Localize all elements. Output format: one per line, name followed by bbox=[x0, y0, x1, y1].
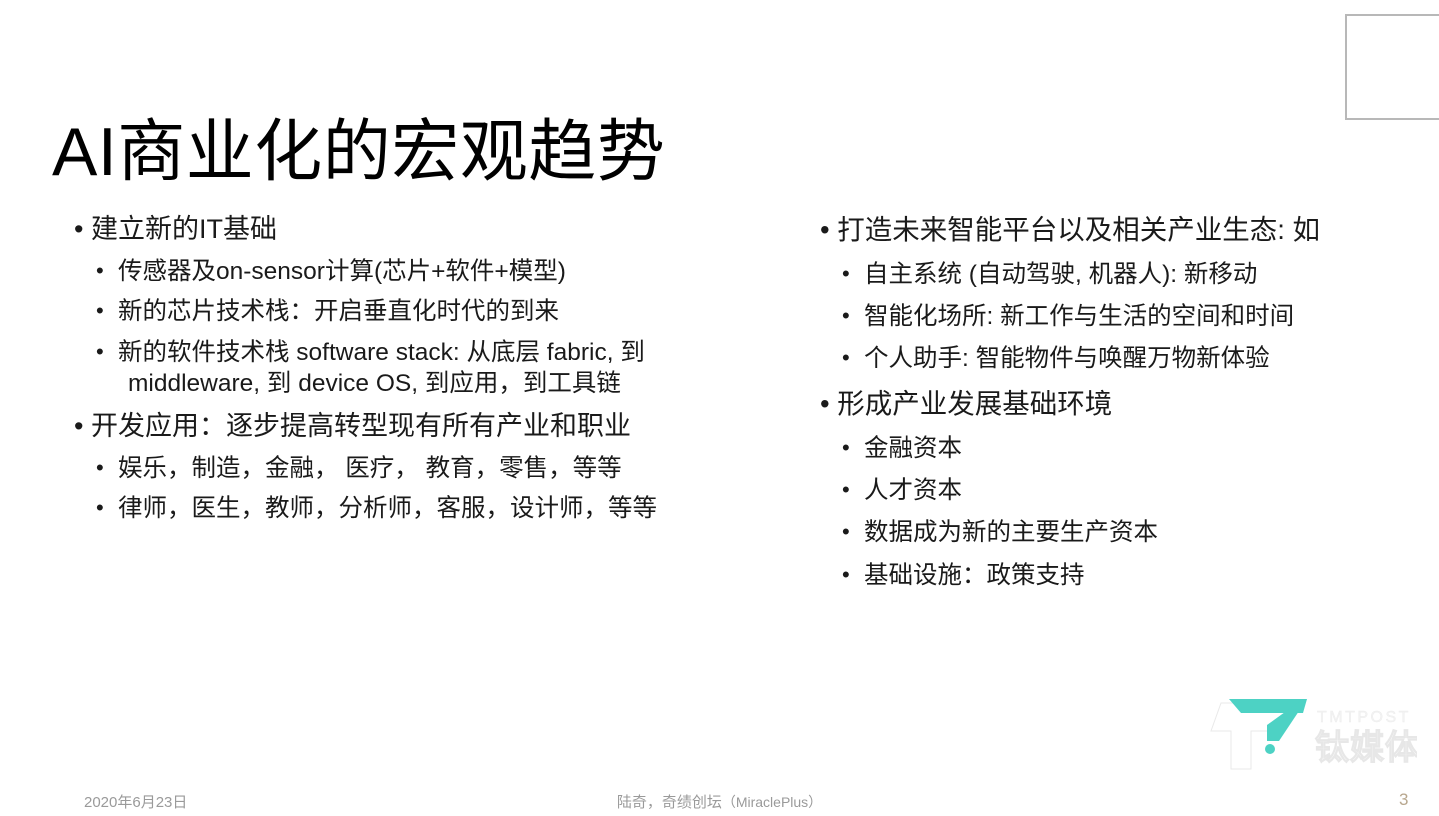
bullet-level2-icon: • bbox=[842, 475, 850, 505]
bullet-level1-icon: • bbox=[74, 411, 83, 441]
bullet-level2-icon: • bbox=[96, 296, 104, 326]
list-item-text: 律师，医生，教师，分析师，客服，设计师，等等 bbox=[118, 495, 657, 522]
left-group-1-sublist: • 传感器及on-sensor计算(芯片+软件+模型) • 新的芯片技术栈：开启… bbox=[90, 256, 788, 399]
footer-attribution-latin: （MiraclePlus） bbox=[722, 794, 822, 810]
bullet-level2-icon: • bbox=[842, 343, 850, 373]
right-group-2: • 形成产业发展基础环境 • 金融资本 • 人才资本 • 数据成为新的主要生产资… bbox=[792, 386, 1412, 591]
slide-canvas: AI商业化的宏观趋势 • 建立新的IT基础 • 传感器及on-sensor计算(… bbox=[0, 0, 1439, 816]
list-item-text: 智能化场所: 新工作与生活的空间和时间 bbox=[864, 303, 1294, 330]
right-group-2-heading: • 形成产业发展基础环境 bbox=[792, 386, 1412, 422]
list-item: • 自主系统 (自动驾驶, 机器人): 新移动 bbox=[836, 259, 1412, 290]
list-item-text: 数据成为新的主要生产资本 bbox=[864, 519, 1158, 546]
bullet-level1-icon: • bbox=[74, 214, 83, 244]
right-group-1-sublist: • 自主系统 (自动驾驶, 机器人): 新移动 • 智能化场所: 新工作与生活的… bbox=[836, 259, 1412, 375]
bullet-level2-icon: • bbox=[96, 337, 104, 367]
list-item-text: 新的软件技术栈 software stack: 从底层 fabric, 到 bbox=[118, 339, 645, 366]
svg-text:钛媒体: 钛媒体 bbox=[1315, 729, 1417, 767]
right-group-1-heading: • 打造未来智能平台以及相关产业生态: 如 bbox=[792, 212, 1412, 248]
list-item-text: 传感器及on-sensor计算(芯片+软件+模型) bbox=[118, 258, 566, 285]
left-bullet-list: • 建立新的IT基础 • 传感器及on-sensor计算(芯片+软件+模型) •… bbox=[48, 212, 788, 524]
left-group-1: • 建立新的IT基础 • 传感器及on-sensor计算(芯片+软件+模型) •… bbox=[48, 212, 788, 400]
list-item-text: 个人助手: 智能物件与唤醒万物新体验 bbox=[864, 345, 1270, 372]
left-content-column: • 建立新的IT基础 • 传感器及on-sensor计算(芯片+软件+模型) •… bbox=[48, 212, 788, 533]
right-content-column: • 打造未来智能平台以及相关产业生态: 如 • 自主系统 (自动驾驶, 机器人)… bbox=[792, 212, 1412, 602]
list-item: • 律师，医生，教师，分析师，客服，设计师，等等 bbox=[90, 493, 788, 524]
bullet-level2-icon: • bbox=[842, 301, 850, 331]
bullet-level2-icon: • bbox=[842, 560, 850, 590]
list-item: • 基础设施：政策支持 bbox=[836, 560, 1412, 591]
bullet-level2-icon: • bbox=[96, 493, 104, 523]
list-item-text-continued: middleware, 到 device OS, 到应用，到工具链 bbox=[118, 368, 788, 399]
list-item-text: 娱乐，制造，金融， 医疗， 教育，零售，等等 bbox=[118, 455, 622, 482]
left-group-1-heading: • 建立新的IT基础 bbox=[48, 212, 788, 247]
bullet-level2-icon: • bbox=[842, 433, 850, 463]
list-item-text: 人才资本 bbox=[864, 477, 962, 504]
list-item: • 新的软件技术栈 software stack: 从底层 fabric, 到 … bbox=[90, 337, 788, 400]
bullet-level2-icon: • bbox=[96, 256, 104, 286]
bullet-level2-icon: • bbox=[842, 259, 850, 289]
footer-attribution-cn: 陆奇，奇绩创坛 bbox=[617, 794, 722, 811]
footer-attribution: 陆奇，奇绩创坛（MiraclePlus） bbox=[0, 791, 1439, 812]
list-item: • 传感器及on-sensor计算(芯片+软件+模型) bbox=[90, 256, 788, 287]
tmtpost-watermark: TMTPOST 钛媒体 bbox=[1207, 697, 1417, 775]
bullet-level1-icon: • bbox=[820, 388, 830, 419]
right-group-2-sublist: • 金融资本 • 人才资本 • 数据成为新的主要生产资本 • 基础设施：政策支持 bbox=[836, 433, 1412, 591]
tmtpost-logo-icon: TMTPOST 钛媒体 bbox=[1207, 697, 1417, 775]
right-group-1-heading-text: 打造未来智能平台以及相关产业生态: 如 bbox=[837, 214, 1320, 245]
corner-frame-box bbox=[1345, 14, 1439, 120]
list-item: • 金融资本 bbox=[836, 433, 1412, 464]
list-item-text: 基础设施：政策支持 bbox=[864, 562, 1085, 589]
right-group-1: • 打造未来智能平台以及相关产业生态: 如 • 自主系统 (自动驾驶, 机器人)… bbox=[792, 212, 1412, 375]
left-group-2-heading-text: 开发应用：逐步提高转型现有所有产业和职业 bbox=[91, 411, 631, 441]
list-item: • 智能化场所: 新工作与生活的空间和时间 bbox=[836, 301, 1412, 332]
left-group-2: • 开发应用：逐步提高转型现有所有产业和职业 • 娱乐，制造，金融， 医疗， 教… bbox=[48, 409, 788, 525]
list-item-text: 新的芯片技术栈：开启垂直化时代的到来 bbox=[118, 298, 559, 325]
left-group-1-heading-text: 建立新的IT基础 bbox=[91, 214, 277, 244]
bullet-level2-icon: • bbox=[96, 453, 104, 483]
list-item-text: 自主系统 (自动驾驶, 机器人): 新移动 bbox=[864, 261, 1257, 288]
right-bullet-list: • 打造未来智能平台以及相关产业生态: 如 • 自主系统 (自动驾驶, 机器人)… bbox=[792, 212, 1412, 591]
right-group-2-heading-text: 形成产业发展基础环境 bbox=[837, 388, 1112, 419]
bullet-level1-icon: • bbox=[820, 214, 830, 245]
left-group-2-heading: • 开发应用：逐步提高转型现有所有产业和职业 bbox=[48, 409, 788, 444]
svg-text:TMTPOST: TMTPOST bbox=[1317, 709, 1411, 726]
left-group-2-sublist: • 娱乐，制造，金融， 医疗， 教育，零售，等等 • 律师，医生，教师，分析师，… bbox=[90, 453, 788, 525]
list-item: • 个人助手: 智能物件与唤醒万物新体验 bbox=[836, 343, 1412, 374]
list-item: • 数据成为新的主要生产资本 bbox=[836, 517, 1412, 548]
list-item: • 娱乐，制造，金融， 医疗， 教育，零售，等等 bbox=[90, 453, 788, 484]
page-number: 3 bbox=[1399, 790, 1408, 810]
list-item-text: 金融资本 bbox=[864, 435, 962, 462]
page-title: AI商业化的宏观趋势 bbox=[52, 112, 665, 192]
list-item: • 人才资本 bbox=[836, 475, 1412, 506]
bullet-level2-icon: • bbox=[842, 517, 850, 547]
list-item: • 新的芯片技术栈：开启垂直化时代的到来 bbox=[90, 296, 788, 327]
